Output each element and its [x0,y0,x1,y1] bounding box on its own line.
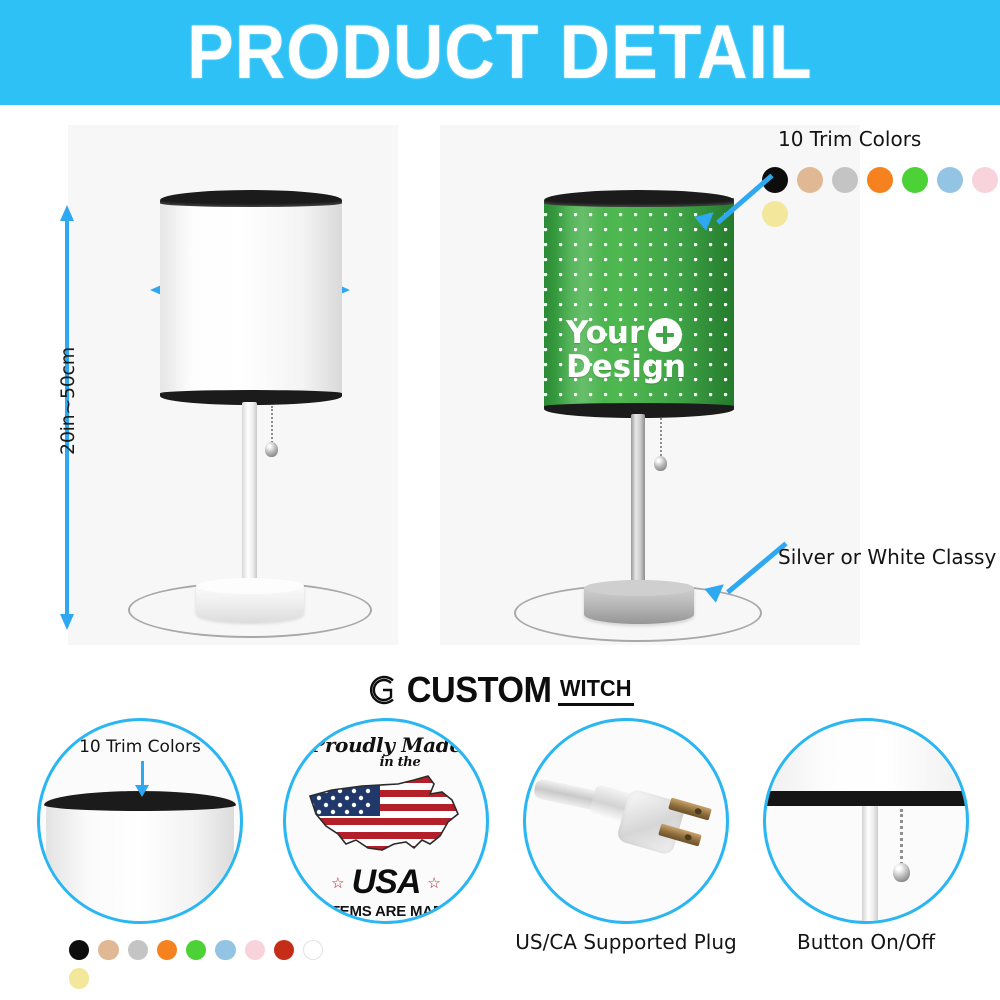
lamp-base-white [196,578,304,622]
pull-chain[interactable] [271,406,273,446]
usa-script-line-2: in the [314,756,486,769]
height-dimension: 20in~50cm [40,205,100,630]
base-top-face [196,578,304,594]
pull-chain-closeup[interactable] [900,809,903,865]
lamp-pole-closeup [862,806,878,921]
feature-circle: 10 Trim Colors [37,718,243,924]
trim-swatch-black[interactable] [69,940,89,960]
down-arrow-shaft [141,761,144,787]
pull-chain-ball[interactable] [265,442,278,457]
feature-button-on-off: Button On/Off [748,718,984,954]
swatch-row-1 [69,940,323,960]
trim-colors-heading: 10 Trim Colors [778,127,921,151]
main-stage: 7in~18cm 20in~50cm [0,105,1000,665]
usa-badge: Proudly Made in the [286,735,486,924]
brand-underline [558,703,633,706]
shade-closeup [768,729,964,793]
pull-chain-ball-closeup[interactable] [893,863,910,882]
swatch-row-1 [762,167,1000,193]
shade-trim-closeup [763,791,969,806]
trim-swatch-gray[interactable] [128,940,148,960]
header-banner: PRODUCT DETAIL [0,0,1000,105]
trim-swatch-light-blue[interactable] [215,940,235,960]
feature-plug: US/CA Supported Plug [508,718,744,954]
base-callout-label: Silver or White Classy [778,545,996,569]
trim-swatch-yellow[interactable] [69,968,89,988]
star-icon-left: ☆ [331,874,344,892]
design-line-2: Design [566,349,686,385]
shade-closeup [46,799,234,924]
c-monogram-icon [366,673,400,707]
trim-swatch-tan[interactable] [98,940,118,960]
lamp-shade-white [160,190,342,405]
usa-word: USA [352,863,421,902]
trim-swatch-white[interactable] [303,940,323,960]
usa-map-flag-icon [302,770,470,862]
brand-logo: CUSTOM WITCH [0,665,1000,715]
arrow-down-icon [60,614,74,630]
shade-surface [160,198,342,397]
trim-swatch-red[interactable] [274,940,294,960]
lamp-white [150,190,350,630]
pull-chain-ball[interactable] [654,456,667,471]
lamp-pole [631,414,645,604]
feature-circle: Proudly Made in the [283,718,489,924]
design-line-1: Your [566,315,644,351]
bottom-trim-swatches [69,940,323,997]
feature-plug-caption: US/CA Supported Plug [508,930,744,954]
feature-trim-colors: 10 Trim Colors [22,718,258,924]
brand-name-main: CUSTOM [407,669,552,711]
trim-swatch-green[interactable] [902,167,928,193]
usa-script-line-1: Proudly Made [310,733,462,757]
down-arrow-icon [135,785,149,797]
trim-color-swatches [762,167,1000,235]
trim-swatch-pink[interactable] [245,940,265,960]
usa-script-text: Proudly Made in the [286,735,486,769]
star-icon-right: ☆ [427,874,440,892]
usa-subtext: ALL ITEMS ARE MADE TO ORDER! [286,903,486,924]
trim-swatch-gray[interactable] [832,167,858,193]
trim-swatch-pink[interactable] [972,167,998,193]
trim-swatch-orange[interactable] [157,940,177,960]
swatch-row-2 [762,201,1000,227]
feature-row: 10 Trim Colors Proudly Made in the [0,718,1000,1000]
brand-name-sub: WITCH [560,675,632,702]
lamp-pole [242,402,257,602]
product-detail-infographic: PRODUCT DETAIL 7in~18cm 20in~50cm [0,0,1000,1000]
page-title: PRODUCT DETAIL [187,9,812,96]
height-dimension-label: 20in~50cm [57,311,79,491]
trim-swatch-light-blue[interactable] [937,167,963,193]
usa-word-row: ☆ USA ☆ [286,863,486,902]
feature-circle [523,718,729,924]
trim-swatch-green[interactable] [186,940,206,960]
trim-swatch-orange[interactable] [867,167,893,193]
brand-name-sub-wrap: WITCH [558,675,633,706]
arrow-shaft [716,174,774,225]
feature-circle [763,718,969,924]
power-plug-icon [534,769,724,879]
feature-made-in-usa: Proudly Made in the [268,718,504,924]
feature-button-caption: Button On/Off [748,930,984,954]
trim-callout-arrow-icon [700,167,790,227]
lamp-base-silver [584,580,694,624]
pull-chain[interactable] [660,418,662,460]
plus-icon [648,318,682,352]
base-top-face [584,580,694,596]
swatch-row-2 [69,968,323,988]
trim-swatch-tan[interactable] [797,167,823,193]
shade-trim-top [160,190,342,207]
feature-trim-colors-label: 10 Trim Colors [40,737,240,757]
your-design-text: Your Design [544,318,734,382]
